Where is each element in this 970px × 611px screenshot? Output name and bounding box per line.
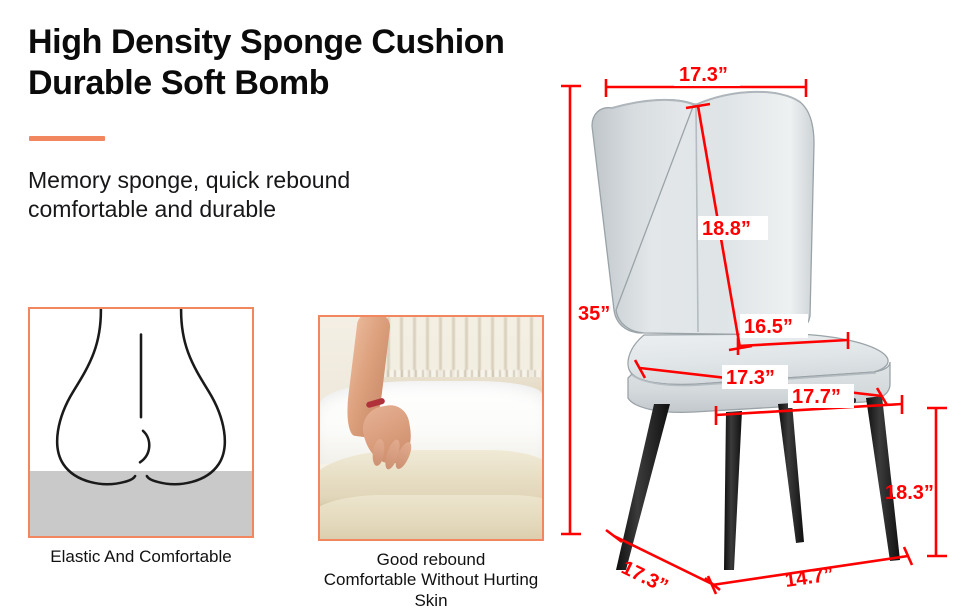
- dim-label-seat-width: 17.7”: [792, 386, 841, 408]
- feature-panel-elastic: Elastic And Comfortable: [28, 307, 254, 567]
- rebound-photo-frame: [318, 315, 544, 541]
- accent-divider: [29, 136, 105, 141]
- chair-leg-front-center: [724, 411, 742, 570]
- rebound-caption: Good rebound Comfortable Without Hurting…: [318, 550, 544, 611]
- elastic-illustration-frame: [28, 307, 254, 538]
- chair-leg-back-right: [866, 396, 900, 561]
- chair-leg-back-center: [778, 403, 804, 543]
- dim-label-floor-depth: 17.3”: [618, 557, 672, 596]
- page-subtitle-line1: Memory sponge, quick rebound: [28, 167, 350, 193]
- dim-floor-depth-tick-top: [606, 530, 622, 542]
- page-title: High Density Sponge Cushion Durable Soft…: [28, 22, 548, 105]
- rebound-caption-line2: Comfortable Without Hurting Skin: [318, 570, 544, 611]
- rebound-caption-line1: Good rebound: [377, 550, 486, 569]
- page-subtitle: Memory sponge, quick rebound comfortable…: [28, 166, 498, 224]
- product-infographic: High Density Sponge Cushion Durable Soft…: [0, 0, 970, 600]
- dim-label-back-height: 18.8”: [702, 218, 751, 240]
- dim-label-leg-height: 18.3”: [885, 482, 934, 504]
- dim-label-seat-diagonal: 17.3”: [726, 367, 775, 389]
- dim-label-floor-width: 14.7”: [784, 563, 836, 592]
- chair-svg: 17.3” 18.8” 16.5” 17.3” 17.7” 35” 18.3” …: [548, 48, 966, 596]
- elastic-caption: Elastic And Comfortable: [28, 547, 254, 567]
- feature-panel-rebound: Good rebound Comfortable Without Hurting…: [318, 315, 544, 611]
- chair-dimension-diagram: 17.3” 18.8” 16.5” 17.3” 17.7” 35” 18.3” …: [548, 48, 966, 596]
- page-title-line1: High Density Sponge Cushion: [28, 23, 505, 61]
- elastic-caption-line1: Elastic And Comfortable: [50, 547, 231, 566]
- memory-foam-photo: [320, 317, 542, 539]
- page-title-line2: Durable Soft Bomb: [28, 63, 548, 104]
- dim-label-seat-depth-upper: 16.5”: [744, 316, 793, 338]
- dim-label-back-width: 17.3”: [679, 64, 728, 86]
- photo-foam-layer-bottom: [318, 495, 544, 541]
- dim-label-overall-height: 35”: [578, 303, 610, 325]
- chair-leg-front-left: [616, 404, 670, 570]
- body-outline-icon: [30, 309, 252, 536]
- page-subtitle-line2: comfortable and durable: [28, 195, 498, 224]
